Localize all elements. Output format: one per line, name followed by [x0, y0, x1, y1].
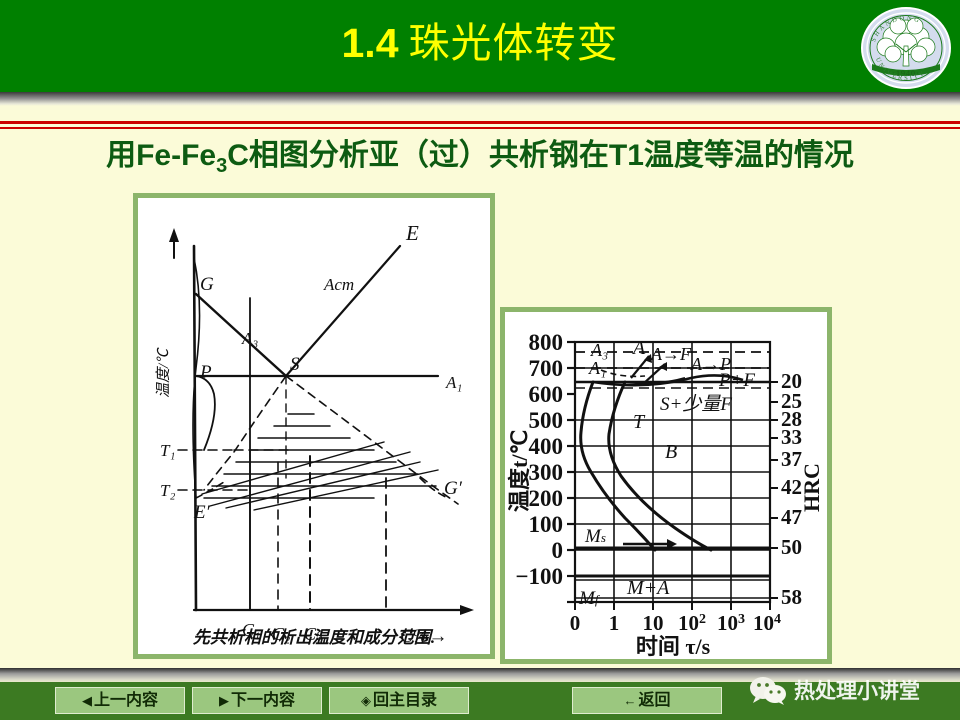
back-button[interactable]: ←返回 — [572, 687, 722, 714]
label-P: P — [199, 362, 212, 383]
next-button[interactable]: ▶下一内容 — [192, 687, 322, 714]
watermark: 热处理小讲堂 — [748, 672, 920, 708]
page-title-text: 珠光体转变 — [399, 20, 619, 66]
subtitle-subscript: 3 — [216, 155, 227, 177]
diamond-icon: ◈ — [361, 693, 373, 708]
prev-arrow-icon: ◀ — [82, 693, 94, 708]
hrc-58: 58 — [781, 585, 802, 609]
ytick-100: 100 — [529, 512, 564, 537]
university-seal-logo: ·1940· SHANDONG UNIVERSITY — [860, 6, 952, 90]
label-S: S — [290, 354, 300, 375]
page-title-number: 1.4 — [342, 20, 399, 66]
main-menu-button[interactable]: ◈回主目录 — [329, 687, 469, 714]
label-G-prime: G′ — [444, 478, 463, 499]
prev-button-label: 上一内容 — [94, 692, 158, 709]
ytick-minus100: −100 — [515, 564, 563, 589]
ytick-400: 400 — [529, 434, 564, 459]
label-A3: A₃ — [241, 329, 258, 348]
ytick-200: 200 — [529, 486, 564, 511]
subtitle-part1: 用Fe-Fe — [106, 139, 216, 172]
ylabel-temperature: 温度/℃ — [155, 347, 172, 398]
xtick-0: 0 — [570, 611, 581, 635]
wechat-icon — [748, 675, 788, 705]
ttt-diagram-figure: 800 700 600 500 400 300 200 100 0 −100 温… — [500, 307, 832, 664]
next-arrow-icon: ▶ — [219, 693, 231, 708]
ytick-300: 300 — [529, 460, 564, 485]
region-Ms: Ms — [584, 526, 606, 547]
xtick-1000: 103 — [717, 611, 745, 635]
xtick-100: 102 — [678, 611, 706, 635]
region-Mf: Mf — [578, 588, 601, 609]
ytick-0: 0 — [552, 538, 564, 563]
ytick-800: 800 — [529, 330, 564, 355]
xlabel-time: 时间 τ/s — [636, 634, 711, 659]
xtick-1: 1 — [609, 611, 620, 635]
xtick-10: 10 — [643, 611, 664, 635]
subtitle: 用Fe-Fe3C相图分析亚（过）共析钢在T1温度等温的情况 — [0, 134, 960, 188]
back-button-label: 返回 — [638, 692, 670, 709]
label-A1: A₁ — [445, 373, 462, 392]
divider-red-top — [0, 121, 960, 124]
back-arrow-icon: ← — [623, 693, 638, 708]
page-title: 1.4珠光体转变 — [0, 14, 960, 72]
ytick-600: 600 — [529, 382, 564, 407]
label-E: E — [405, 221, 419, 245]
region-M-plus-A: M+A — [626, 577, 670, 599]
region-A-to-F: A→F — [650, 344, 692, 364]
ytick-500: 500 — [529, 408, 564, 433]
divider-red-bottom — [0, 127, 960, 129]
ytick-700: 700 — [529, 356, 564, 381]
subtitle-part2: C相图分析亚（过）共析钢在T1温度等温的情况 — [227, 139, 854, 172]
main-menu-button-label: 回主目录 — [373, 692, 437, 709]
region-B: B — [665, 441, 677, 463]
xtick-10000: 104 — [753, 611, 781, 635]
left-figure-caption: 先共析相的析出温度和成分范围. — [138, 623, 490, 648]
ylabel-temperature-c: 温度t/℃ — [507, 430, 532, 512]
region-A: A — [631, 337, 646, 359]
region-A3: A₃ — [590, 340, 608, 360]
hrc-50: 50 — [781, 535, 802, 559]
right-axis-label-hrc: HRC — [799, 463, 824, 512]
region-P-plus-F: P+F — [718, 370, 755, 391]
fe-fe3c-phase-diagram-figure: G P S E E′ G′ A₃ Acm A₁ T₁ T₂ C₁ C₂ CS C… — [133, 193, 495, 659]
label-T2: T₂ — [160, 481, 175, 500]
region-S-plus-F: S+少量F — [660, 394, 732, 415]
watermark-text: 热处理小讲堂 — [788, 675, 920, 705]
region-A1: A₁ — [588, 358, 606, 378]
label-G: G — [200, 274, 214, 295]
prev-button[interactable]: ◀上一内容 — [55, 687, 185, 714]
next-button-label: 下一内容 — [231, 692, 295, 709]
region-T: T — [633, 411, 646, 433]
label-T1: T₁ — [160, 441, 175, 460]
header-gradient-divider — [0, 92, 960, 106]
hrc-33: 33 — [781, 425, 802, 449]
label-E-prime: E′ — [193, 502, 211, 523]
label-Acm: Acm — [323, 275, 354, 294]
slide-root: 1.4珠光体转变 ·1940· — [0, 0, 960, 720]
